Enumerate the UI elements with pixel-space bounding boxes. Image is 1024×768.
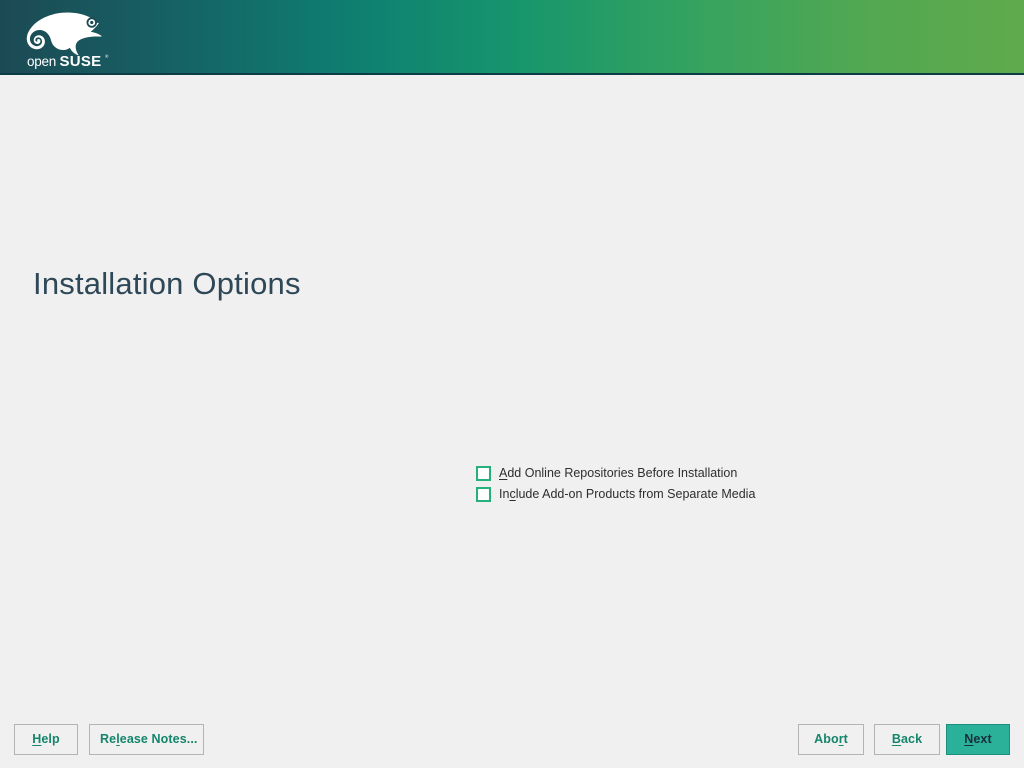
option-label-rest: lude Add-on Products from Separate Media [516,487,756,501]
mnemonic-char: H [32,732,41,746]
next-label-rest: ext [973,732,991,746]
wordmark-open: open [27,54,56,69]
checkbox-include-addon-products[interactable] [476,487,491,502]
help-button[interactable]: Help [14,724,78,755]
release-notes-label-rest: ease Notes... [120,732,198,746]
option-label-rest: dd Online Repositories Before Installati… [507,466,737,480]
mnemonic-char: N [964,732,973,746]
page-title: Installation Options [33,266,301,302]
abort-label-rest: t [844,732,848,746]
installation-options-group: Add Online Repositories Before Installat… [476,463,755,505]
option-label-include-addon-products: Include Add-on Products from Separate Me… [499,488,755,501]
wordmark-trademark: ® [105,53,109,59]
release-notes-label-prefix: Re [100,732,116,746]
next-button[interactable]: Next [946,724,1010,755]
opensuse-logo: open SUSE ® [16,5,121,71]
abort-button[interactable]: Abort [798,724,864,755]
abort-label-prefix: Abo [814,732,839,746]
option-label-add-online-repositories: Add Online Repositories Before Installat… [499,467,737,480]
installer-window: open SUSE ® Installation Options Add Onl… [0,0,1024,768]
checkbox-add-online-repositories[interactable] [476,466,491,481]
footer-button-bar: Help Release Notes... Abort Back Next [0,700,1024,768]
help-button-label-rest: elp [41,732,59,746]
back-button[interactable]: Back [874,724,940,755]
main-content: Installation Options Add Online Reposito… [0,75,1024,768]
option-add-online-repositories[interactable]: Add Online Repositories Before Installat… [476,463,755,483]
back-label-rest: ack [901,732,922,746]
option-label-prefix: In [499,487,509,501]
brand-banner: open SUSE ® [0,0,1024,75]
mnemonic-char: B [892,732,901,746]
release-notes-button[interactable]: Release Notes... [89,724,204,755]
option-include-addon-products[interactable]: Include Add-on Products from Separate Me… [476,484,755,504]
wordmark-suse: SUSE [60,53,102,70]
chameleon-logo-icon: open SUSE ® [16,5,121,71]
